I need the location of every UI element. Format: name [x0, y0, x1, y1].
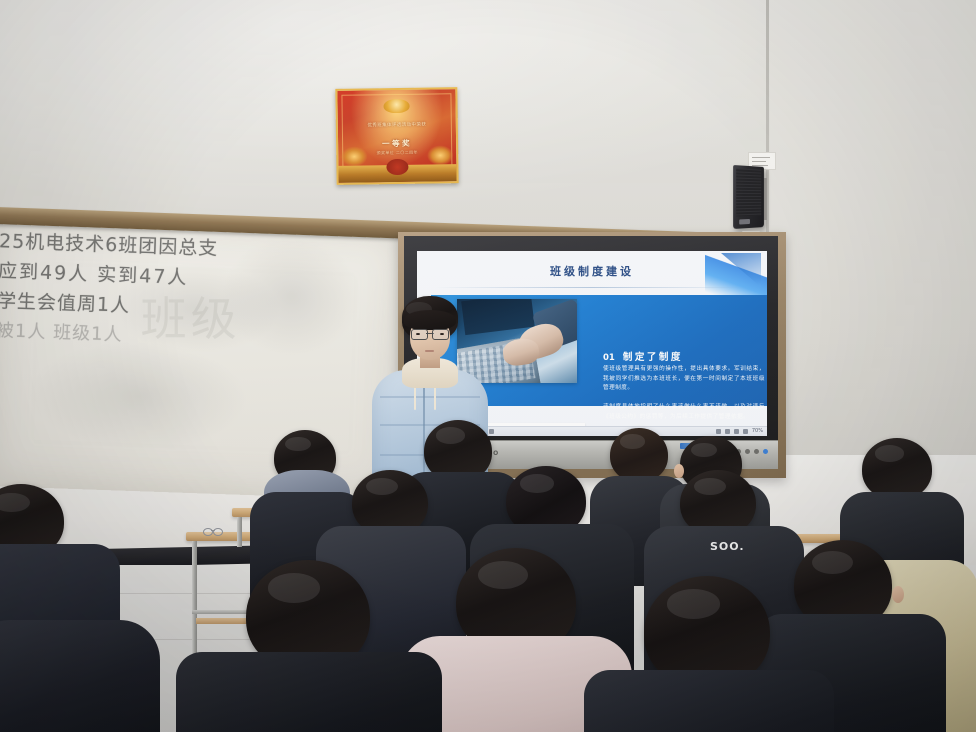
- presenter-fringe: [404, 310, 456, 330]
- plaque-bottom-band: [338, 164, 456, 183]
- classroom-photo: 优秀班集体评选活动中荣获 一等奖 颁奖单位 二〇二四年 班级 25机电技术6班团…: [0, 0, 976, 732]
- eyeglasses-on-desk: [203, 528, 223, 535]
- volume-up-icon[interactable]: [754, 449, 759, 454]
- student-head: [862, 438, 932, 500]
- power-button-icon[interactable]: [763, 449, 768, 454]
- student-body: [176, 652, 442, 732]
- slide-section-number: 01: [603, 353, 615, 363]
- plaque-line-bottom: 颁奖单位 二〇二四年: [377, 150, 418, 157]
- slide-paragraph-2: 该制度具体地指明了什么事该做什么事不该做，以及对违反《班级公约》的惩罚等，为后续…: [603, 403, 765, 422]
- reading-view-icon[interactable]: [734, 429, 739, 434]
- slide-section-heading: 01制定了制度: [603, 349, 683, 363]
- plaque-award-label: 一等奖: [382, 138, 412, 149]
- slide-sorter-icon[interactable]: [725, 429, 730, 434]
- right-wall-panel: [770, 0, 976, 470]
- award-certificate: 优秀班集体评选活动中荣获 一等奖 颁奖单位 二〇二四年: [335, 87, 458, 185]
- volume-down-icon[interactable]: [745, 449, 750, 454]
- whiteboard-handwriting: 25机电技术6班团因总支 应到49人 实到47人 学生会值周1人 被1人 班级1…: [0, 226, 329, 357]
- speaker-badge: [739, 219, 750, 225]
- speaker-grille-icon: [736, 168, 761, 216]
- slide-title: 班级制度建设: [417, 263, 767, 279]
- status-right-controls[interactable]: 70%: [716, 428, 763, 434]
- slide-title-rule: [435, 287, 749, 288]
- gold-emblem-icon: [383, 99, 409, 113]
- slide-section-title: 制定了制度: [623, 352, 683, 363]
- jacket-label-text: SOO.: [710, 540, 745, 553]
- presenter-mouth: [425, 350, 434, 352]
- student-head: [610, 428, 668, 482]
- slide-paragraph-1: 使班级管理具有更强的操作性，提出具体要求。军训结束，我被同学们推选为本班班长，便…: [603, 365, 765, 394]
- slideshow-icon[interactable]: [743, 429, 748, 434]
- student-body: [0, 620, 160, 732]
- plaque-line-top: 优秀班集体评选活动中荣获: [367, 123, 426, 130]
- student-body: [584, 670, 834, 732]
- zoom-level-label[interactable]: 70%: [752, 428, 763, 434]
- whiteboard: 班级 25机电技术6班团因总支 应到49人 实到47人 学生会值周1人 被1人 …: [0, 216, 404, 500]
- wall-speaker: [733, 165, 764, 229]
- normal-view-icon[interactable]: [716, 429, 721, 434]
